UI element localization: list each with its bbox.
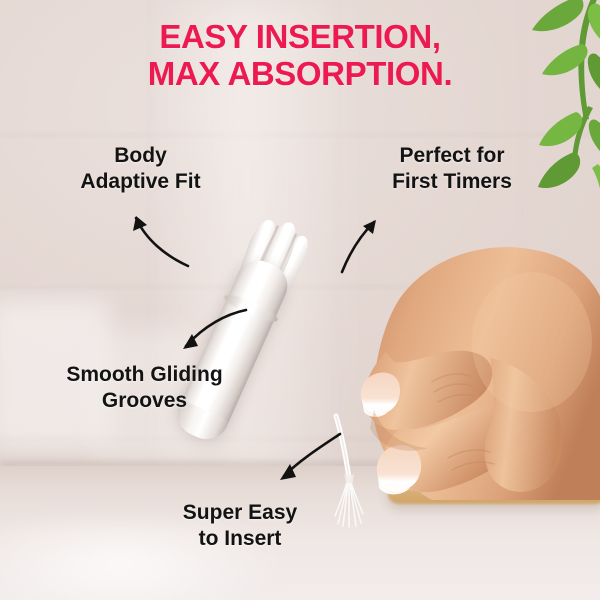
headline: EASY INSERTION, MAX ABSORPTION. [0, 19, 600, 93]
callout-body-adaptive-fit: Body Adaptive Fit [38, 143, 243, 194]
callout-smooth-gliding-grooves: Smooth Gliding Grooves [32, 362, 257, 413]
callout-super-easy-to-insert: Super Easy to Insert [140, 500, 340, 551]
callout-line-2: Adaptive Fit [38, 169, 243, 195]
callout-line-2: First Timers [352, 169, 552, 195]
callout-line-2: Grooves [32, 388, 257, 414]
callout-line-1: Smooth Gliding [32, 362, 257, 388]
headline-line-2: MAX ABSORPTION. [0, 56, 600, 93]
callout-line-1: Perfect for [352, 143, 552, 169]
hand-holding-product [282, 232, 600, 500]
callout-line-1: Body [38, 143, 243, 169]
callout-line-2: to Insert [140, 526, 340, 552]
product-feature-image: EASY INSERTION, MAX ABSORPTION. Body Ada… [0, 0, 600, 600]
callout-perfect-for-first-timers: Perfect for First Timers [352, 143, 552, 194]
callout-line-1: Super Easy [140, 500, 340, 526]
headline-line-1: EASY INSERTION, [0, 19, 600, 56]
